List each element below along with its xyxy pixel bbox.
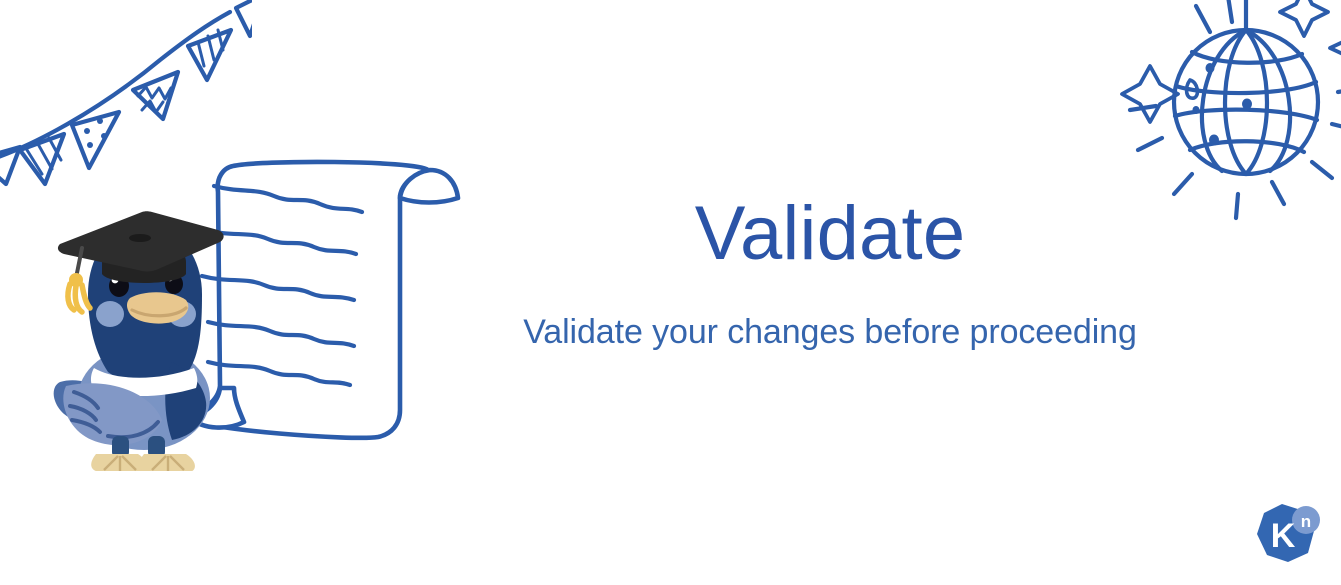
party-bunting-icon [0,0,252,188]
page-subtitle: Validate your changes before proceeding [470,272,1190,351]
logo-letter-n: n [1301,512,1311,531]
scroll-certificate-icon [178,138,468,463]
kn-logo: K n [1252,502,1324,572]
slide-canvas: Validate Validate your changes before pr… [0,0,1341,585]
graduate-bird-mascot-icon [52,186,232,471]
hero-text-block: Validate Validate your changes before pr… [470,196,1190,351]
logo-letter-k: K [1271,517,1296,555]
page-title: Validate [470,196,1190,272]
